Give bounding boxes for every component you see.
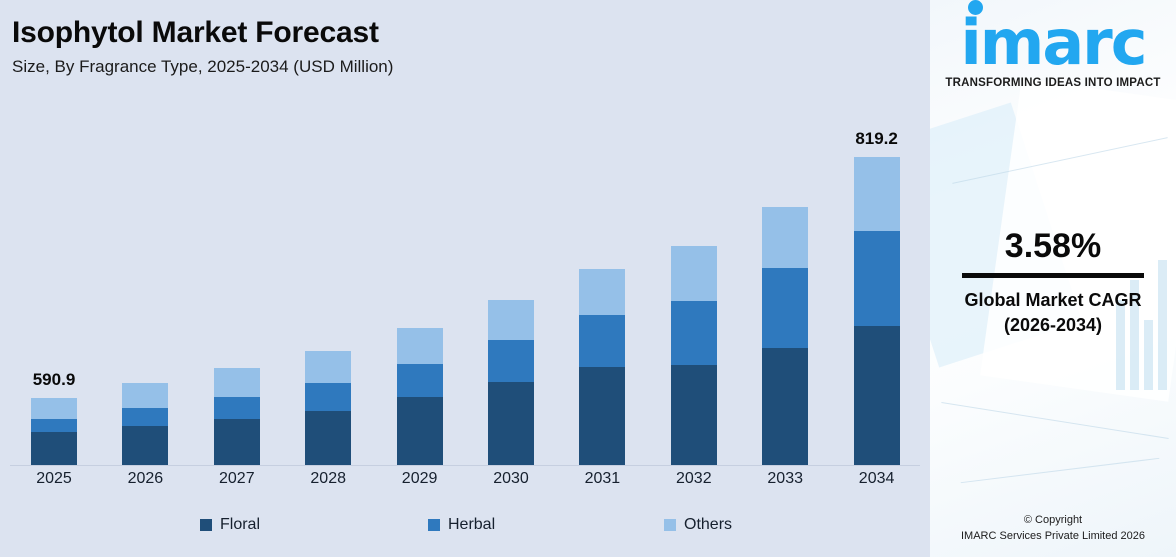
imarc-logo: imarc TRANSFORMING IDEAS INTO IMPACT (930, 14, 1176, 89)
bar-segment-floral[interactable] (762, 348, 808, 465)
bar-segment-floral[interactable] (854, 326, 900, 465)
bar-segment-others[interactable] (579, 269, 625, 315)
logo-wordmark: imarc (960, 14, 1145, 73)
legend-item-herbal[interactable]: Herbal (428, 516, 495, 534)
cagr-period: (2026-2034) (930, 313, 1176, 337)
bar-stack (579, 269, 625, 465)
bar-segment-others[interactable] (122, 383, 168, 408)
bar-segment-herbal[interactable] (214, 397, 260, 419)
bar-group-2030[interactable] (488, 300, 534, 465)
bg-line (961, 458, 1160, 483)
logo-text: imarc (960, 6, 1145, 79)
legend-swatch-icon (664, 519, 676, 531)
x-tick-2032: 2032 (654, 470, 734, 488)
bar-group-2025[interactable]: 590.9 (31, 398, 77, 465)
bar-segment-floral[interactable] (671, 365, 717, 465)
legend-label: Floral (220, 516, 260, 534)
copyright-line-2: IMARC Services Private Limited 2026 (930, 529, 1176, 545)
bar-group-2026[interactable] (122, 383, 168, 465)
bar-group-2029[interactable] (397, 328, 443, 465)
bar-segment-floral[interactable] (488, 382, 534, 465)
bar-segment-floral[interactable] (579, 367, 625, 465)
bar-value-label: 819.2 (855, 129, 898, 149)
title-block: Isophytol Market Forecast Size, By Fragr… (12, 16, 892, 77)
copyright-line-1: © Copyright (930, 513, 1176, 529)
bar-segment-herbal[interactable] (579, 315, 625, 367)
bar-segment-herbal[interactable] (122, 408, 168, 426)
bar-stack (671, 246, 717, 465)
x-tick-2030: 2030 (471, 470, 551, 488)
bar-segment-herbal[interactable] (671, 301, 717, 365)
bar-stack: 819.2 (854, 157, 900, 465)
page-title: Isophytol Market Forecast (12, 16, 892, 51)
x-tick-2027: 2027 (197, 470, 277, 488)
bar-group-2032[interactable] (671, 246, 717, 465)
x-tick-2034: 2034 (837, 470, 917, 488)
legend-label: Others (684, 516, 732, 534)
plot-area: 590.9819.2 (0, 110, 930, 466)
bar-segment-floral[interactable] (214, 419, 260, 465)
x-tick-2026: 2026 (105, 470, 185, 488)
bar-segment-floral[interactable] (122, 426, 168, 465)
x-axis-labels: 2025202620272028202920302031203220332034 (0, 470, 930, 496)
cagr-value: 3.58% (930, 228, 1176, 265)
bar-segment-others[interactable] (397, 328, 443, 364)
chart-panel: Isophytol Market Forecast Size, By Fragr… (0, 0, 930, 557)
x-tick-2031: 2031 (562, 470, 642, 488)
bar-segment-others[interactable] (488, 300, 534, 340)
bar-segment-herbal[interactable] (488, 340, 534, 382)
legend-item-floral[interactable]: Floral (200, 516, 260, 534)
bar-stack (214, 368, 260, 465)
x-axis-line (10, 465, 920, 466)
cagr-block: 3.58% Global Market CAGR (2026-2034) (930, 228, 1176, 337)
bar-segment-others[interactable] (671, 246, 717, 301)
bar-segment-herbal[interactable] (31, 419, 77, 432)
chart-legend: FloralHerbalOthers (0, 516, 930, 546)
bar-segment-others[interactable] (854, 157, 900, 231)
bar-stack (305, 351, 351, 465)
bar-stack (122, 383, 168, 465)
bar-group-2027[interactable] (214, 368, 260, 465)
bar-stack (488, 300, 534, 465)
legend-item-others[interactable]: Others (664, 516, 732, 534)
bar-segment-herbal[interactable] (762, 268, 808, 348)
legend-label: Herbal (448, 516, 495, 534)
chart-infographic: Isophytol Market Forecast Size, By Fragr… (0, 0, 1176, 557)
bar-segment-floral[interactable] (305, 411, 351, 465)
bar-segment-herbal[interactable] (397, 364, 443, 397)
bar-segment-herbal[interactable] (854, 231, 900, 326)
legend-swatch-icon (200, 519, 212, 531)
bar-group-2031[interactable] (579, 269, 625, 465)
x-tick-2025: 2025 (14, 470, 94, 488)
bar-group-2033[interactable] (762, 207, 808, 465)
bar-stack (762, 207, 808, 465)
brand-panel: imarc TRANSFORMING IDEAS INTO IMPACT 3.5… (930, 0, 1176, 557)
bar-segment-floral[interactable] (397, 397, 443, 465)
page-subtitle: Size, By Fragrance Type, 2025-2034 (USD … (12, 57, 892, 77)
x-tick-2029: 2029 (380, 470, 460, 488)
bar-stack (397, 328, 443, 465)
bar-group-2034[interactable]: 819.2 (854, 157, 900, 465)
x-tick-2028: 2028 (288, 470, 368, 488)
x-tick-2033: 2033 (745, 470, 825, 488)
bar-segment-floral[interactable] (31, 432, 77, 465)
bg-line (941, 402, 1168, 439)
cagr-label: Global Market CAGR (930, 288, 1176, 312)
cagr-divider (962, 273, 1144, 278)
bar-segment-others[interactable] (305, 351, 351, 383)
bar-stack: 590.9 (31, 398, 77, 465)
legend-swatch-icon (428, 519, 440, 531)
bar-value-label: 590.9 (33, 370, 76, 390)
bar-group-2028[interactable] (305, 351, 351, 465)
bar-segment-others[interactable] (762, 207, 808, 268)
bar-segment-herbal[interactable] (305, 383, 351, 411)
copyright-block: © Copyright IMARC Services Private Limit… (930, 513, 1176, 545)
bar-segment-others[interactable] (214, 368, 260, 397)
bar-segment-others[interactable] (31, 398, 77, 419)
